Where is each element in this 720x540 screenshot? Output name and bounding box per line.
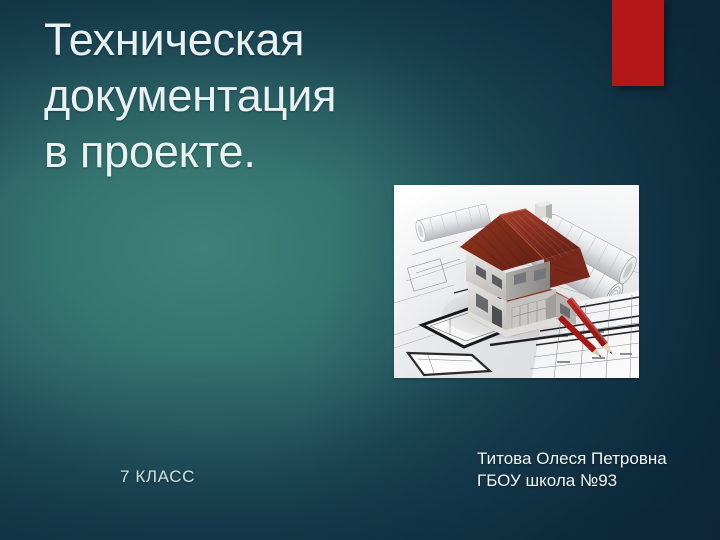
chimney [535, 201, 552, 220]
red-accent-rectangle [612, 0, 664, 86]
house-blueprint-illustration [394, 185, 639, 378]
slide-author-block: Титова Олеся Петровна ГБОУ школа №93 [477, 448, 667, 492]
slide-subtitle-class: 7 КЛАСС [120, 466, 195, 488]
title-slide: Техническая документация в проекте. 7 КЛ… [0, 0, 720, 540]
house-blueprint-photo [394, 185, 639, 378]
slide-title: Техническая документация в проекте. [44, 12, 464, 180]
